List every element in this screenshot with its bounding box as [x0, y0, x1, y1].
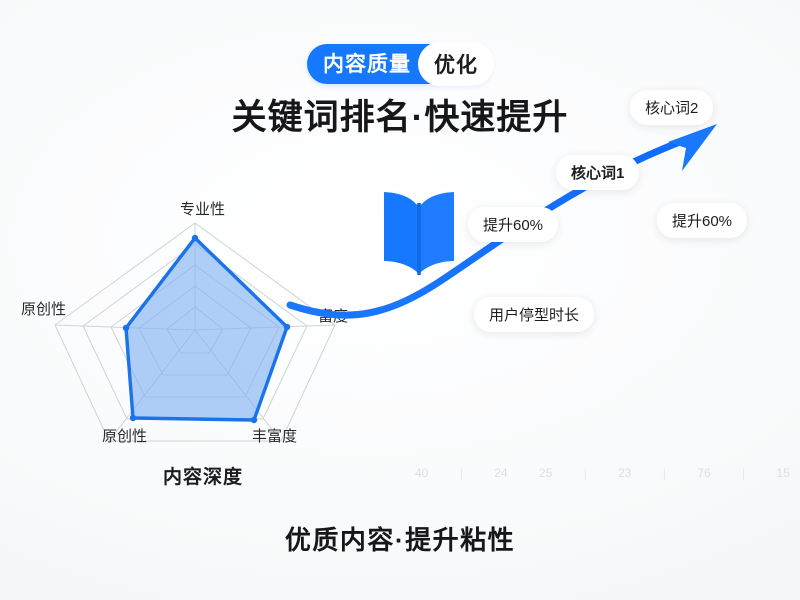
- badge-tag-label: 优化: [420, 44, 492, 84]
- axis-tick-8: |: [742, 466, 745, 480]
- axis-tick-1: |: [460, 466, 463, 480]
- radar-label-left: 原创性: [21, 298, 66, 319]
- axis-tick-3: 25: [539, 466, 552, 480]
- callout-uplift-left[interactable]: 提升60%: [468, 207, 558, 242]
- axis-tick-2: 24: [494, 466, 507, 480]
- callout-uplift-right[interactable]: 提升60%: [657, 203, 747, 238]
- badge-main-label: 内容质量: [323, 54, 420, 75]
- axis-tick-0: 40: [415, 466, 428, 480]
- axis-tick-4: |: [584, 466, 587, 480]
- poster-canvas: 内容质量 优化 关键词排名·快速提升: [0, 0, 800, 600]
- callout-core-keyword-2[interactable]: 核心词2: [630, 90, 713, 125]
- axis-tick-7: 76: [697, 466, 710, 480]
- callout-core-keyword-1[interactable]: 核心词1: [556, 155, 639, 190]
- caption-footer: 优质内容·提升粘性: [0, 520, 800, 557]
- callout-dwell-time[interactable]: 用户停型时长: [474, 297, 594, 332]
- axis-tick-row: 40 | 24 25 | 23 | 76 | 15: [415, 466, 790, 480]
- radar-label-bottom-left: 原创性: [102, 425, 147, 446]
- open-book-icon: [374, 183, 464, 283]
- radar-label-bottom-right: 丰富度: [252, 425, 297, 446]
- axis-tick-5: 23: [618, 466, 631, 480]
- axis-tick-9: 15: [777, 466, 790, 480]
- axis-tick-6: |: [663, 466, 666, 480]
- caption-content-depth: 内容深度: [163, 462, 243, 489]
- quality-badge[interactable]: 内容质量 优化: [307, 44, 492, 84]
- radar-label-top: 专业性: [180, 198, 225, 219]
